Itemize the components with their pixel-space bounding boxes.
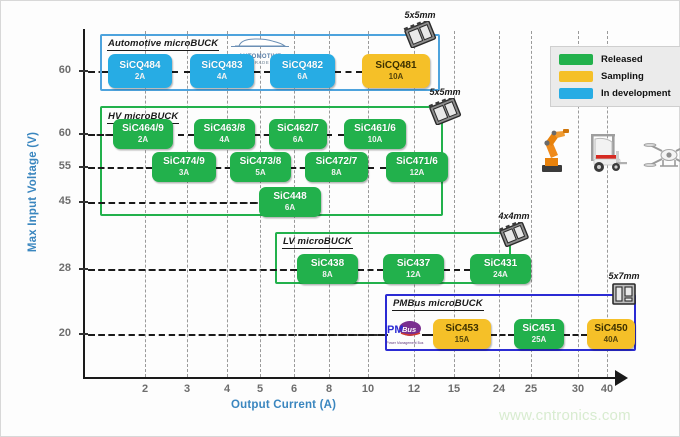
pmbus-logo-icon: PM Bus bbox=[386, 321, 424, 336]
legend: Released Sampling In development bbox=[550, 46, 680, 107]
y-tick-label-45: 45 bbox=[39, 195, 71, 207]
connector-pmbus-2 bbox=[564, 334, 587, 336]
part-chip-sic461-6[interactable]: SiC461/6 10A bbox=[344, 119, 406, 149]
part-current: 8A bbox=[331, 169, 341, 177]
robot-arm-icon bbox=[533, 127, 571, 173]
x-tick-label-3: 3 bbox=[172, 383, 202, 395]
package-label: 4x4mm bbox=[483, 211, 545, 221]
part-chip-sicq482[interactable]: SiCQ482 6A bbox=[270, 54, 335, 88]
legend-item-sampling: Sampling bbox=[559, 71, 671, 82]
connector-hv-r2-2 bbox=[291, 167, 305, 169]
connector-pmbus-base bbox=[89, 334, 384, 336]
x-tick-label-40: 40 bbox=[592, 383, 622, 395]
y-tick-mark-20 bbox=[79, 333, 88, 335]
x-tick-label-10: 10 bbox=[353, 383, 383, 395]
part-chip-sic462-7[interactable]: SiC462/7 6A bbox=[269, 119, 327, 149]
y-axis-title: Max Input Voltage (V) bbox=[27, 112, 39, 272]
part-number: SiCQ481 bbox=[375, 61, 416, 72]
package-callout-automotive: 5x5mm bbox=[388, 10, 452, 48]
part-chip-sic453[interactable]: SiC453 15A bbox=[433, 319, 491, 349]
x-tick-label-5: 5 bbox=[245, 383, 275, 395]
part-chip-sic450[interactable]: SiC450 40A bbox=[587, 319, 635, 349]
package-callout-pmbus: 5x7mm bbox=[596, 271, 652, 306]
y-tick-mark-28 bbox=[79, 268, 88, 270]
part-number: SiC448 bbox=[273, 192, 306, 203]
part-number: SiC462/7 bbox=[277, 124, 319, 135]
part-current: 8A bbox=[322, 271, 332, 279]
part-chip-sic448[interactable]: SiC448 6A bbox=[259, 187, 321, 217]
drone-icon bbox=[643, 139, 680, 173]
part-number: SiC431 bbox=[484, 259, 517, 270]
part-chip-sic431[interactable]: SiC431 24A bbox=[470, 254, 531, 284]
part-number: SiCQ484 bbox=[119, 61, 160, 72]
part-chip-sicq481[interactable]: SiCQ481 10A bbox=[362, 54, 430, 88]
x-tick-label-4: 4 bbox=[212, 383, 242, 395]
connector-auto-0 bbox=[89, 71, 108, 73]
part-chip-sic451[interactable]: SiC451 25A bbox=[514, 319, 564, 349]
connector-hv-r1-1 bbox=[178, 134, 194, 136]
x-tick-label-25: 25 bbox=[516, 383, 546, 395]
y-tick-label-60b: 60 bbox=[39, 127, 71, 139]
y-tick-label-55: 55 bbox=[39, 160, 71, 172]
connector-pmbus-1 bbox=[491, 334, 514, 336]
y-tick-mark-60b bbox=[79, 133, 88, 135]
part-number: SiC438 bbox=[311, 259, 344, 270]
y-tick-mark-55 bbox=[79, 166, 88, 168]
watermark: www.cntronics.com bbox=[499, 407, 631, 424]
y-axis-line bbox=[83, 29, 85, 379]
forklift-icon bbox=[583, 131, 631, 173]
package-label: 5x5mm bbox=[413, 87, 477, 97]
part-chip-sic438[interactable]: SiC438 8A bbox=[297, 254, 358, 284]
car-silhouette-icon bbox=[231, 36, 289, 49]
part-number: SiC474/9 bbox=[163, 157, 205, 168]
y-tick-mark-60a bbox=[79, 70, 88, 72]
part-chip-sicq483[interactable]: SiCQ483 4A bbox=[190, 54, 254, 88]
connector-auto-3 bbox=[335, 71, 362, 73]
part-chip-sic472-7[interactable]: SiC472/7 8A bbox=[305, 152, 368, 182]
powerpak-package-icon bbox=[609, 282, 639, 306]
connector-hv-r1-0 bbox=[89, 134, 113, 136]
x-axis-title: Output Current (A) bbox=[231, 399, 336, 411]
part-current: 6A bbox=[297, 73, 307, 81]
part-chip-sic463-8[interactable]: SiC463/8 4A bbox=[194, 119, 255, 149]
connector-hv-r1-2 bbox=[255, 134, 269, 136]
connector-auto-2 bbox=[254, 71, 270, 73]
connector-lv-0 bbox=[89, 269, 297, 271]
package-label: 5x5mm bbox=[388, 10, 452, 20]
x-tick-label-2: 2 bbox=[130, 383, 160, 395]
connector-hv-r2-3 bbox=[368, 167, 386, 169]
connector-hv-r2-1 bbox=[216, 167, 230, 169]
part-number: SiC461/6 bbox=[354, 124, 396, 135]
legend-item-in-development: In development bbox=[559, 88, 671, 99]
part-chip-sicq484[interactable]: SiCQ484 2A bbox=[108, 54, 172, 88]
x-axis-line bbox=[83, 377, 619, 379]
y-tick-label-60a: 60 bbox=[39, 64, 71, 76]
qfn-package-icon bbox=[402, 21, 438, 48]
connector-lv-1 bbox=[358, 269, 383, 271]
part-current: 2A bbox=[138, 136, 148, 144]
qfn-package-icon bbox=[427, 98, 463, 125]
part-number: SiC453 bbox=[445, 324, 478, 335]
part-current: 5A bbox=[255, 169, 265, 177]
part-number: SiC472/7 bbox=[316, 157, 358, 168]
pmbus-logo: PM Bus Power Management Bus bbox=[386, 321, 424, 345]
part-number: SiC451 bbox=[522, 324, 555, 335]
part-current: 40A bbox=[604, 336, 619, 344]
connector-pmbus-0 bbox=[422, 334, 433, 336]
connector-hv-r1-3 bbox=[326, 134, 344, 136]
part-current: 6A bbox=[293, 136, 303, 144]
part-chip-sic464-9[interactable]: SiC464/9 2A bbox=[113, 119, 173, 149]
svg-text:Bus: Bus bbox=[402, 325, 416, 334]
y-tick-label-20: 20 bbox=[39, 327, 71, 339]
part-current: 3A bbox=[179, 169, 189, 177]
application-icons bbox=[533, 127, 680, 173]
legend-label-sampling: Sampling bbox=[601, 71, 644, 82]
part-number: SiC473/8 bbox=[240, 157, 282, 168]
x-tick-label-6: 6 bbox=[279, 383, 309, 395]
legend-swatch-sampling bbox=[559, 71, 593, 82]
part-current: 15A bbox=[455, 336, 470, 344]
legend-swatch-in-development bbox=[559, 88, 593, 99]
part-number: SiC464/9 bbox=[122, 124, 164, 135]
x-tick-label-8: 8 bbox=[314, 383, 344, 395]
part-number: SiCQ483 bbox=[201, 61, 242, 72]
legend-label-in-development: In development bbox=[601, 88, 671, 99]
part-current: 25A bbox=[532, 336, 547, 344]
part-chip-sic474-9[interactable]: SiC474/9 3A bbox=[152, 152, 216, 182]
part-current: 10A bbox=[389, 73, 404, 81]
group-label-lv: LV microBUCK bbox=[282, 236, 353, 249]
part-current: 12A bbox=[406, 271, 421, 279]
x-tick-label-24: 24 bbox=[484, 383, 514, 395]
part-number: SiC471/6 bbox=[396, 157, 438, 168]
legend-item-released: Released bbox=[559, 54, 671, 65]
legend-label-released: Released bbox=[601, 54, 643, 65]
y-tick-label-28: 28 bbox=[39, 262, 71, 274]
legend-swatch-released bbox=[559, 54, 593, 65]
part-current: 6A bbox=[285, 204, 295, 212]
part-chip-sic437[interactable]: SiC437 12A bbox=[383, 254, 444, 284]
package-label: 5x7mm bbox=[596, 271, 652, 281]
part-current: 24A bbox=[493, 271, 508, 279]
x-tick-label-15: 15 bbox=[439, 383, 469, 395]
part-number: SiC463/8 bbox=[204, 124, 246, 135]
part-current: 2A bbox=[135, 73, 145, 81]
package-callout-hv: 5x5mm bbox=[413, 87, 477, 125]
part-current: 12A bbox=[410, 169, 425, 177]
connector-auto-1 bbox=[172, 71, 190, 73]
part-number: SiC437 bbox=[397, 259, 430, 270]
part-chip-sic471-6[interactable]: SiC471/6 12A bbox=[386, 152, 448, 182]
pmbus-logo-subtitle: Power Management Bus bbox=[386, 341, 424, 345]
part-current: 10A bbox=[368, 136, 383, 144]
group-label-automotive: Automotive microBUCK bbox=[107, 38, 219, 51]
x-tick-label-12: 12 bbox=[399, 383, 429, 395]
part-chip-sic473-8[interactable]: SiC473/8 5A bbox=[230, 152, 291, 182]
qfn-package-icon bbox=[497, 222, 531, 247]
chart-canvas: Max Input Voltage (V) Output Current (A)… bbox=[0, 0, 680, 437]
part-number: SiC450 bbox=[594, 324, 627, 335]
connector-lv-2 bbox=[444, 269, 470, 271]
connector-hv-r3-0 bbox=[89, 202, 266, 204]
group-label-pmbus: PMBus microBUCK bbox=[392, 298, 484, 311]
part-current: 4A bbox=[219, 136, 229, 144]
connector-hv-r2-0 bbox=[89, 167, 152, 169]
y-tick-mark-45 bbox=[79, 201, 88, 203]
part-number: SiCQ482 bbox=[282, 61, 323, 72]
part-current: 4A bbox=[217, 73, 227, 81]
x-tick-label-30: 30 bbox=[563, 383, 593, 395]
package-callout-lv: 4x4mm bbox=[483, 211, 545, 247]
